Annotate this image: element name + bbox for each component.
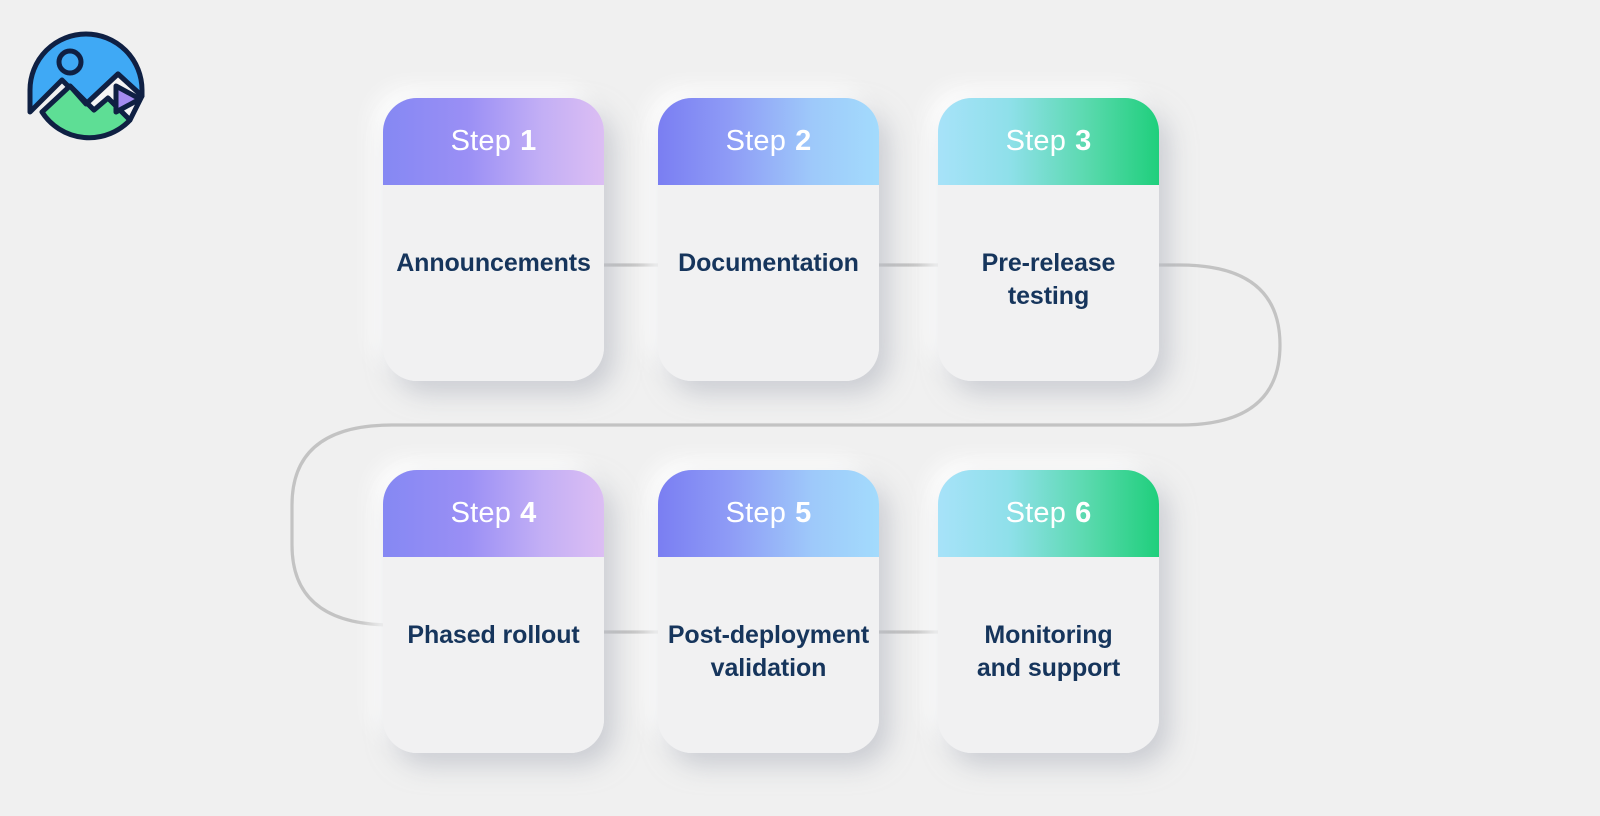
step-card-3-header: Step3 (938, 98, 1159, 185)
step-card-3-number: 3 (1075, 125, 1091, 158)
step-card-2-label: Documentation (664, 247, 873, 280)
step-card-2-number: 2 (795, 125, 811, 158)
step-card-3-step-word: Step (1006, 125, 1066, 158)
step-card-5-step-word: Step (726, 497, 786, 530)
step-card-2-step-word: Step (726, 125, 786, 158)
step-card-2-header: Step2 (658, 98, 879, 185)
step-card-4-header: Step4 (383, 470, 604, 557)
app-logo (22, 26, 150, 154)
step-card-5-label: Post-deployment validation (664, 619, 873, 685)
step-card-4[interactable]: Step4 Phased rollout (383, 470, 604, 753)
step-card-4-step-word: Step (451, 497, 511, 530)
image-placeholder-logo-icon (22, 26, 150, 154)
step-card-6-label: Monitoring and support (944, 619, 1153, 685)
step-card-5-header: Step5 (658, 470, 879, 557)
step-card-1-step-word: Step (451, 125, 511, 158)
step-card-1-body: Announcements (383, 185, 604, 381)
step-card-1-number: 1 (520, 125, 536, 158)
step-card-6-number: 6 (1075, 497, 1091, 530)
step-card-4-number: 4 (520, 497, 536, 530)
step-card-2[interactable]: Step2 Documentation (658, 98, 879, 381)
step-card-5-body: Post-deployment validation (658, 557, 879, 753)
step-card-3[interactable]: Step3 Pre-release testing (938, 98, 1159, 381)
step-card-6[interactable]: Step6 Monitoring and support (938, 470, 1159, 753)
step-card-1[interactable]: Step1 Announcements (383, 98, 604, 381)
step-card-3-label: Pre-release testing (944, 247, 1153, 313)
step-card-2-body: Documentation (658, 185, 879, 381)
step-card-3-body: Pre-release testing (938, 185, 1159, 381)
step-card-4-body: Phased rollout (383, 557, 604, 753)
flowchart-canvas: Step1 Announcements Step2 Documentation … (0, 0, 1600, 816)
step-card-6-header: Step6 (938, 470, 1159, 557)
step-card-1-label: Announcements (389, 247, 598, 280)
step-card-5[interactable]: Step5 Post-deployment validation (658, 470, 879, 753)
step-card-6-step-word: Step (1006, 497, 1066, 530)
step-card-5-number: 5 (795, 497, 811, 530)
step-card-6-body: Monitoring and support (938, 557, 1159, 753)
step-card-1-header: Step1 (383, 98, 604, 185)
step-card-4-label: Phased rollout (389, 619, 598, 652)
